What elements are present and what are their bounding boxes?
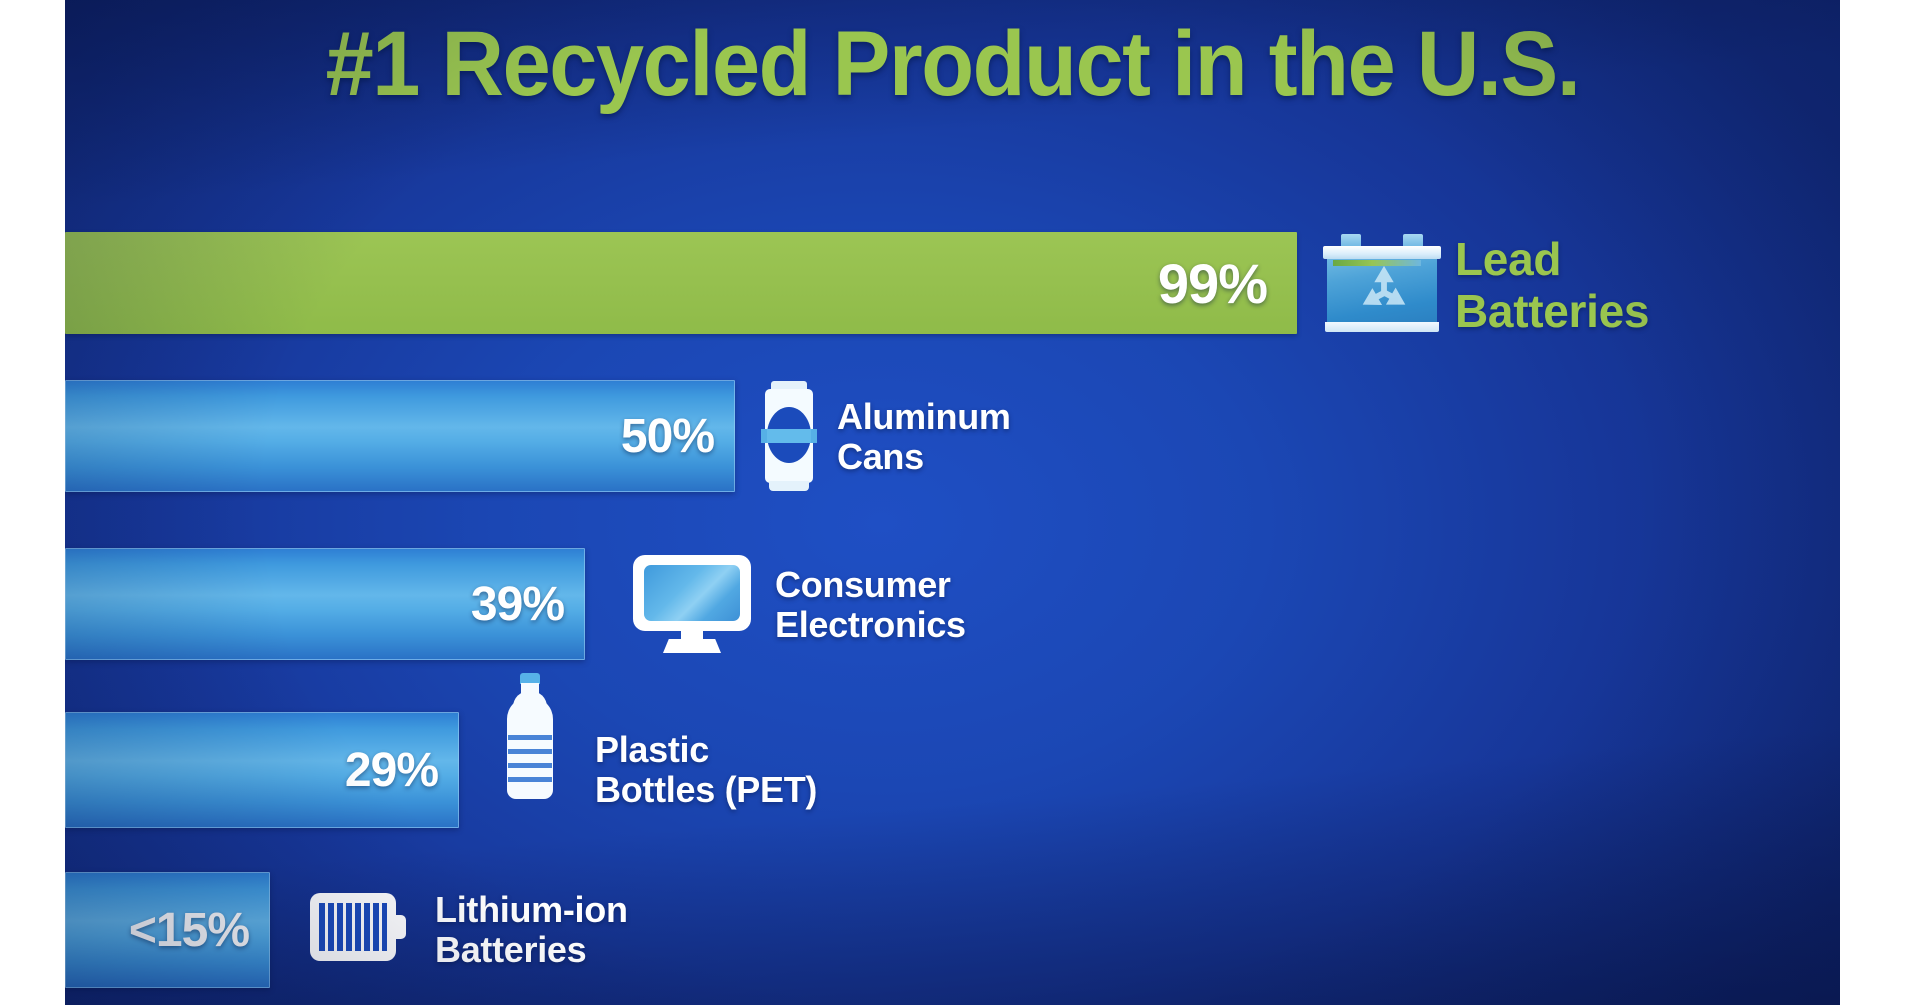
chart-row-lead-batteries: 99% Lea	[65, 232, 1840, 334]
slide-stage: #1 Recycled Product in the U.S. 99%	[0, 0, 1920, 1005]
bar-value-aluminum-cans: 50%	[621, 409, 734, 464]
chart-row-aluminum-cans: 50% Aluminum Cans	[65, 380, 1840, 492]
icon-aluminum-cans	[761, 380, 817, 492]
bar-consumer-electronics: 39%	[65, 548, 585, 660]
lead-battery-recycle-icon	[1323, 234, 1441, 332]
icon-lithium-ion-batteries	[310, 892, 406, 962]
lithium-ion-battery-icon	[310, 893, 406, 961]
category-label-plastic-bottles: Plastic Bottles (PET)	[595, 730, 817, 811]
page-title: #1 Recycled Product in the U.S.	[118, 16, 1787, 113]
chart-row-lithium-ion-batteries: <15% Lithium-ion Batteries	[65, 872, 1840, 988]
bar-plastic-bottles: 29%	[65, 712, 459, 828]
chart-row-consumer-electronics: 39% Consumer Electronics	[65, 548, 1840, 660]
bar-value-plastic-bottles: 29%	[345, 743, 458, 798]
aluminum-can-icon	[761, 381, 817, 491]
icon-consumer-electronics	[633, 550, 751, 658]
bar-lead-batteries: 99%	[65, 232, 1297, 334]
category-label-aluminum-cans: Aluminum Cans	[837, 397, 1011, 478]
bar-lithium-ion-batteries: <15%	[65, 872, 270, 988]
bar-value-lithium-ion-batteries: <15%	[129, 903, 269, 958]
bar-value-lead-batteries: 99%	[1158, 251, 1297, 316]
slide-vignette	[65, 0, 1840, 1005]
plastic-bottle-icon	[505, 673, 555, 799]
infographic-slide: #1 Recycled Product in the U.S. 99%	[65, 0, 1840, 1005]
icon-plastic-bottles	[505, 673, 555, 799]
bar-aluminum-cans: 50%	[65, 380, 735, 492]
bar-value-consumer-electronics: 39%	[471, 577, 584, 632]
category-label-lead-batteries: Lead Batteries	[1455, 234, 1649, 337]
category-label-consumer-electronics: Consumer Electronics	[775, 565, 966, 646]
category-label-lithium-ion-batteries: Lithium-ion Batteries	[435, 890, 628, 971]
recycle-symbol-icon	[1353, 260, 1415, 322]
icon-lead-batteries	[1323, 228, 1441, 338]
monitor-icon	[633, 555, 751, 653]
chart-row-plastic-bottles: 29% Plastic Bottles (PET)	[65, 712, 1840, 828]
